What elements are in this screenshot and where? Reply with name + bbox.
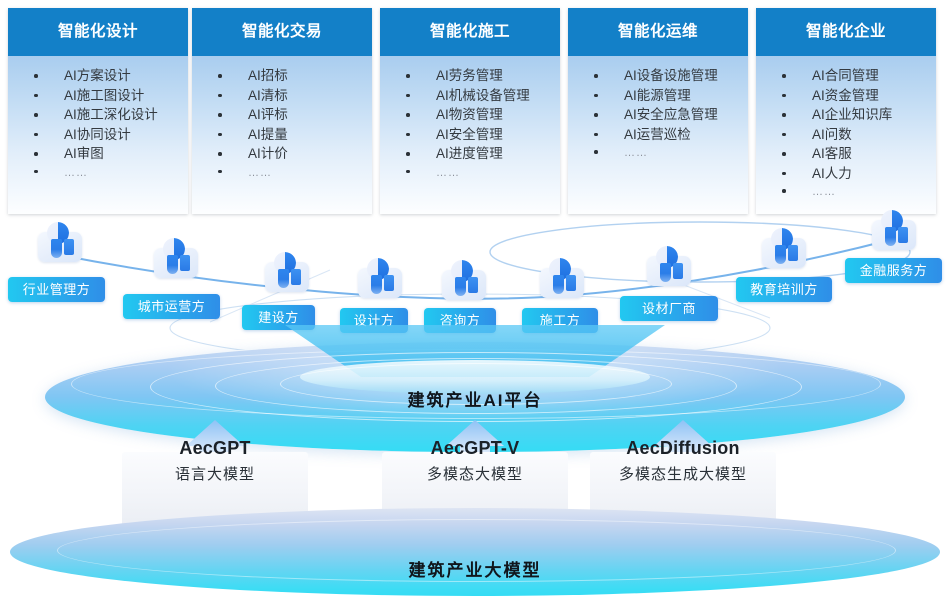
list-item: AI进度管理	[406, 144, 560, 164]
list-item: AI计价	[218, 144, 372, 164]
person-icon	[154, 238, 198, 280]
card-title: 智能化设计	[8, 8, 188, 56]
person-arm-icon	[384, 275, 394, 291]
base-label: 建筑产业大模型	[10, 556, 940, 581]
list-item: AI评标	[218, 105, 372, 125]
list-item: AI企业知识库	[782, 105, 936, 125]
person-icon	[358, 258, 402, 300]
list-item: AI机械设备管理	[406, 86, 560, 106]
list-item-ellipsis: ……	[34, 164, 188, 184]
person-torso-icon	[553, 275, 564, 294]
card-body: AI方案设计 AI施工图设计 AI施工深化设计 AI协同设计 AI审图 ……	[8, 56, 188, 214]
model-subtitle: 多模态生成大模型	[590, 463, 776, 484]
person-icon	[647, 246, 691, 288]
person-icon	[872, 210, 916, 252]
person-torso-icon	[885, 227, 896, 246]
capability-card-operations[interactable]: 智能化运维 AI设备设施管理 AI能源管理 AI安全应急管理 AI运营巡检 ……	[568, 8, 748, 214]
role-label-city-operator[interactable]: 城市运营方	[123, 294, 220, 319]
model-name: AecDiffusion	[590, 438, 776, 459]
list-item: AI安全管理	[406, 125, 560, 145]
person-arm-icon	[291, 269, 301, 285]
role-label-material-supplier[interactable]: 设材厂商	[620, 296, 718, 321]
list-item-ellipsis: ……	[594, 144, 748, 164]
person-icon	[540, 258, 584, 300]
person-arm-icon	[468, 277, 478, 293]
list-item: AI施工深化设计	[34, 105, 188, 125]
platform-label: 建筑产业AI平台	[0, 386, 950, 411]
list-item-ellipsis: ……	[406, 164, 560, 184]
foundation-base-layer[interactable]: 建筑产业大模型	[10, 508, 940, 596]
card-body: AI招标 AI清标 AI评标 AI提量 AI计价 ……	[192, 56, 372, 214]
person-torso-icon	[51, 239, 62, 258]
person-arm-icon	[898, 227, 908, 243]
person-arm-icon	[673, 263, 683, 279]
list-item: AI物资管理	[406, 105, 560, 125]
person-torso-icon	[371, 275, 382, 294]
capability-cards-row: 智能化设计 AI方案设计 AI施工图设计 AI施工深化设计 AI协同设计 AI审…	[0, 0, 950, 222]
list-item: AI能源管理	[594, 86, 748, 106]
card-title: 智能化施工	[380, 8, 560, 56]
person-torso-icon	[278, 269, 289, 288]
model-subtitle: 多模态大模型	[382, 463, 568, 484]
list-item: AI提量	[218, 125, 372, 145]
card-title: 智能化交易	[192, 8, 372, 56]
list-item: AI审图	[34, 144, 188, 164]
list-item: AI设备设施管理	[594, 66, 748, 86]
person-icon	[265, 252, 309, 294]
model-name: AecGPT	[122, 438, 308, 459]
role-label-financial-service[interactable]: 金融服务方	[845, 258, 942, 283]
list-item: AI资金管理	[782, 86, 936, 106]
card-item-list: AI招标 AI清标 AI评标 AI提量 AI计价 ……	[192, 66, 372, 183]
card-item-list: AI合同管理 AI资金管理 AI企业知识库 AI问数 AI客服 AI人力 ……	[756, 66, 936, 203]
card-body: AI劳务管理 AI机械设备管理 AI物资管理 AI安全管理 AI进度管理 ……	[380, 56, 560, 214]
person-torso-icon	[775, 245, 786, 264]
person-icon	[442, 260, 486, 302]
card-body: AI合同管理 AI资金管理 AI企业知识库 AI问数 AI客服 AI人力 ……	[756, 56, 936, 214]
model-name: AecGPT-V	[382, 438, 568, 459]
person-icon	[38, 222, 82, 264]
capability-card-transaction[interactable]: 智能化交易 AI招标 AI清标 AI评标 AI提量 AI计价 ……	[192, 8, 372, 214]
role-label-education-training[interactable]: 教育培训方	[736, 277, 832, 302]
person-torso-icon	[455, 277, 466, 296]
person-arm-icon	[64, 239, 74, 255]
list-item: AI人力	[782, 164, 936, 184]
model-caption-aecgpt: AecGPT 语言大模型	[122, 438, 308, 484]
base-disc	[10, 508, 940, 596]
list-item: AI施工图设计	[34, 86, 188, 106]
model-caption-aecdiffusion: AecDiffusion 多模态生成大模型	[590, 438, 776, 484]
card-item-list: AI方案设计 AI施工图设计 AI施工深化设计 AI协同设计 AI审图 ……	[8, 66, 188, 183]
list-item: AI劳务管理	[406, 66, 560, 86]
list-item: AI招标	[218, 66, 372, 86]
list-item-ellipsis: ……	[218, 164, 372, 184]
person-torso-icon	[660, 263, 671, 282]
list-item: AI清标	[218, 86, 372, 106]
diagram-canvas: 智能化设计 AI方案设计 AI施工图设计 AI施工深化设计 AI协同设计 AI审…	[0, 0, 950, 599]
person-torso-icon	[167, 255, 178, 274]
list-item-ellipsis: ……	[782, 183, 936, 203]
card-title: 智能化企业	[756, 8, 936, 56]
list-item: AI协同设计	[34, 125, 188, 145]
person-arm-icon	[180, 255, 190, 271]
list-item: AI问数	[782, 125, 936, 145]
card-item-list: AI劳务管理 AI机械设备管理 AI物资管理 AI安全管理 AI进度管理 ……	[380, 66, 560, 183]
person-icon	[762, 228, 806, 270]
capability-card-design[interactable]: 智能化设计 AI方案设计 AI施工图设计 AI施工深化设计 AI协同设计 AI审…	[8, 8, 188, 214]
capability-card-construction[interactable]: 智能化施工 AI劳务管理 AI机械设备管理 AI物资管理 AI安全管理 AI进度…	[380, 8, 560, 214]
card-title: 智能化运维	[568, 8, 748, 56]
list-item: AI安全应急管理	[594, 105, 748, 125]
list-item: AI客服	[782, 144, 936, 164]
card-item-list: AI设备设施管理 AI能源管理 AI安全应急管理 AI运营巡检 ……	[568, 66, 748, 164]
card-body: AI设备设施管理 AI能源管理 AI安全应急管理 AI运营巡检 ……	[568, 56, 748, 214]
person-arm-icon	[566, 275, 576, 291]
list-item: AI方案设计	[34, 66, 188, 86]
person-arm-icon	[788, 245, 798, 261]
list-item: AI运营巡检	[594, 125, 748, 145]
model-subtitle: 语言大模型	[122, 463, 308, 484]
list-item: AI合同管理	[782, 66, 936, 86]
role-label-industry-regulator[interactable]: 行业管理方	[8, 277, 105, 302]
model-caption-aecgpt-v: AecGPT-V 多模态大模型	[382, 438, 568, 484]
capability-card-enterprise[interactable]: 智能化企业 AI合同管理 AI资金管理 AI企业知识库 AI问数 AI客服 AI…	[756, 8, 936, 214]
